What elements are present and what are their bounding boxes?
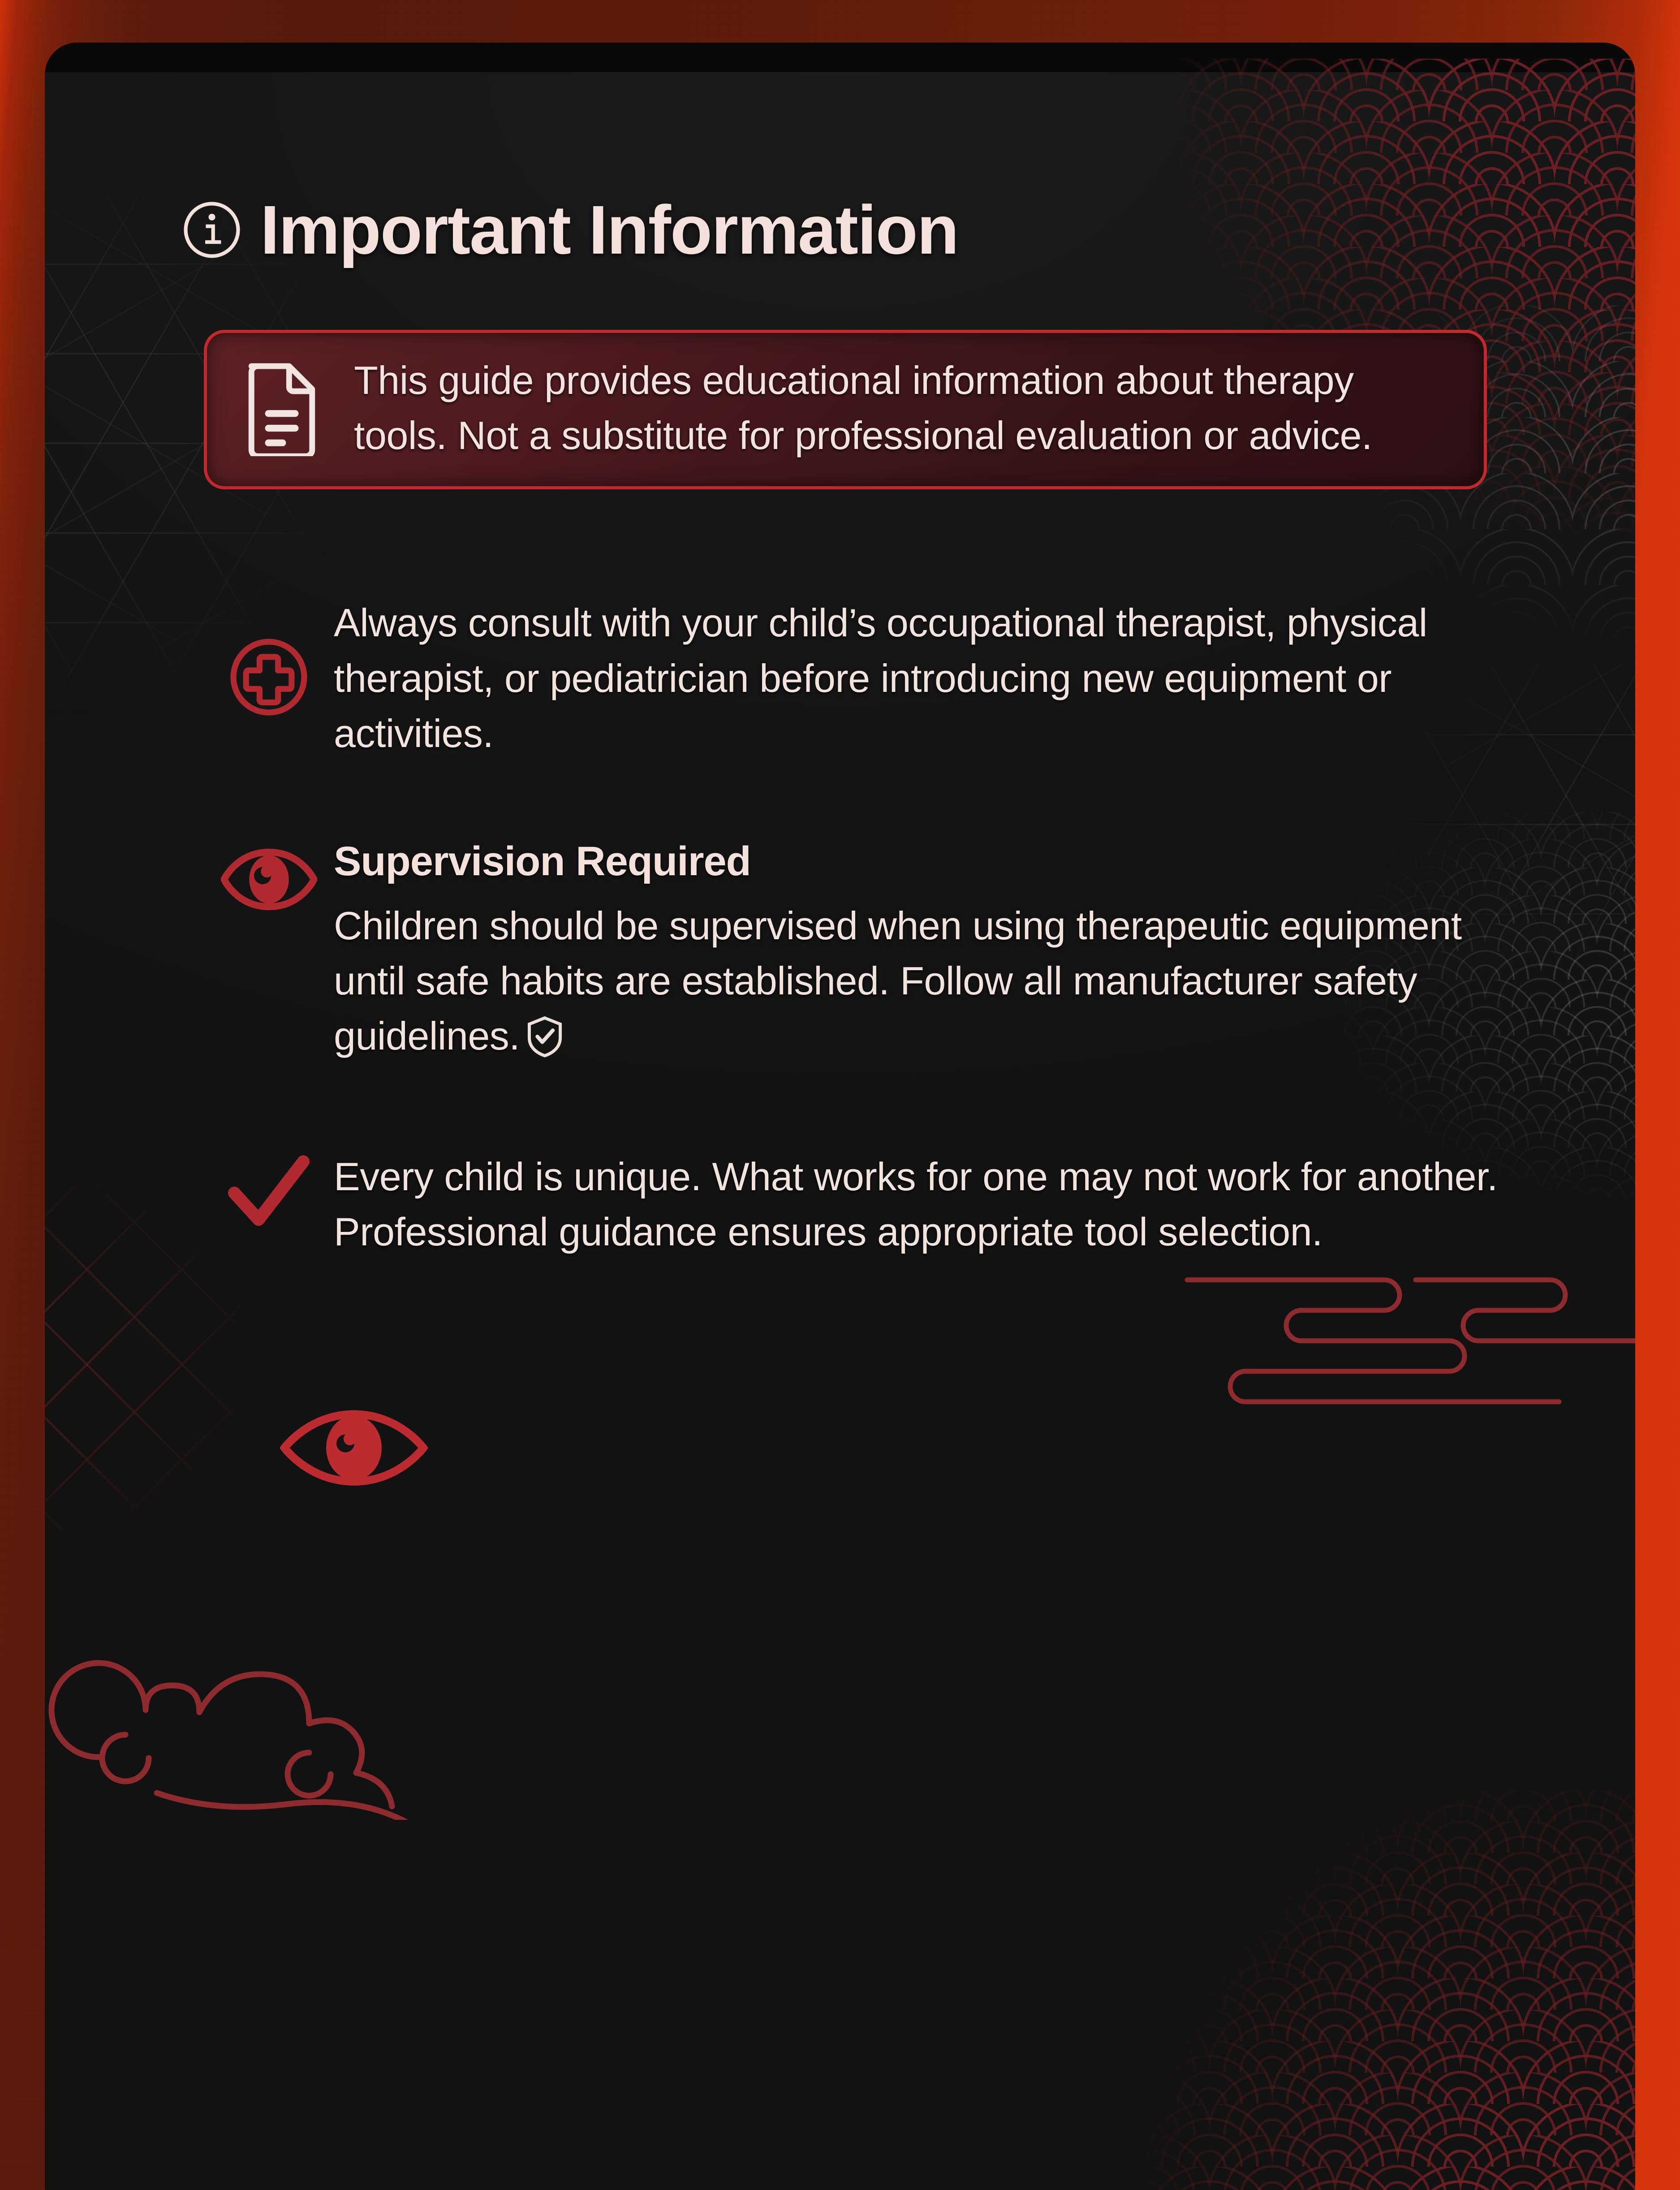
document-icon (239, 360, 324, 456)
shield-check-icon (526, 1015, 564, 1058)
info-circle-icon (181, 199, 242, 260)
section-supervision-text-col: Supervision Required Children should be … (334, 841, 1503, 1064)
app-card-body: Important Information This guide provid (45, 72, 1635, 2190)
app-card: Important Information This guide provid (45, 43, 1635, 2190)
section-supervision-text: Children should be supervised when using… (334, 898, 1503, 1064)
page-title: Important Information (260, 195, 958, 264)
section-supervision-icon-col (204, 841, 334, 913)
seigaiha-wave-pattern-bottom-right-offset (1147, 1790, 1635, 2190)
section-consult-icon-col (204, 635, 334, 721)
section-unique-text-col: Every child is unique. What works for on… (334, 1149, 1503, 1259)
section-supervision-paragraph: Children should be supervised when using… (334, 903, 1462, 1058)
screen-backdrop: Important Information This guide provid (0, 0, 1680, 2190)
section-unique-icon-col (204, 1149, 334, 1236)
educational-notice-card: This guide provides educational informat… (204, 330, 1487, 489)
seigaiha-wave-pattern-bottom-right (1147, 1790, 1635, 2190)
section-supervision-heading: Supervision Required (334, 841, 1503, 882)
section-consult: Always consult with your child’s occupat… (204, 595, 1503, 761)
checkmark-icon (222, 1155, 316, 1236)
section-unique-text: Every child is unique. What works for on… (334, 1149, 1503, 1259)
page-header: Important Information (45, 72, 1635, 264)
notice-card-text: This guide provides educational informat… (354, 353, 1457, 463)
eye-watermark-icon (280, 1403, 428, 1493)
section-supervision: Supervision Required Children should be … (204, 841, 1503, 1064)
section-unique: Every child is unique. What works for on… (204, 1149, 1503, 1259)
kumo-cloud-pattern-left (45, 1542, 479, 1820)
eye-icon (221, 848, 317, 913)
section-consult-text-col: Always consult with your child’s occupat… (334, 595, 1503, 761)
medical-cross-circle-icon (227, 635, 311, 721)
section-consult-text: Always consult with your child’s occupat… (334, 595, 1503, 761)
kumo-cloud-pattern-right (1183, 1237, 1635, 1425)
